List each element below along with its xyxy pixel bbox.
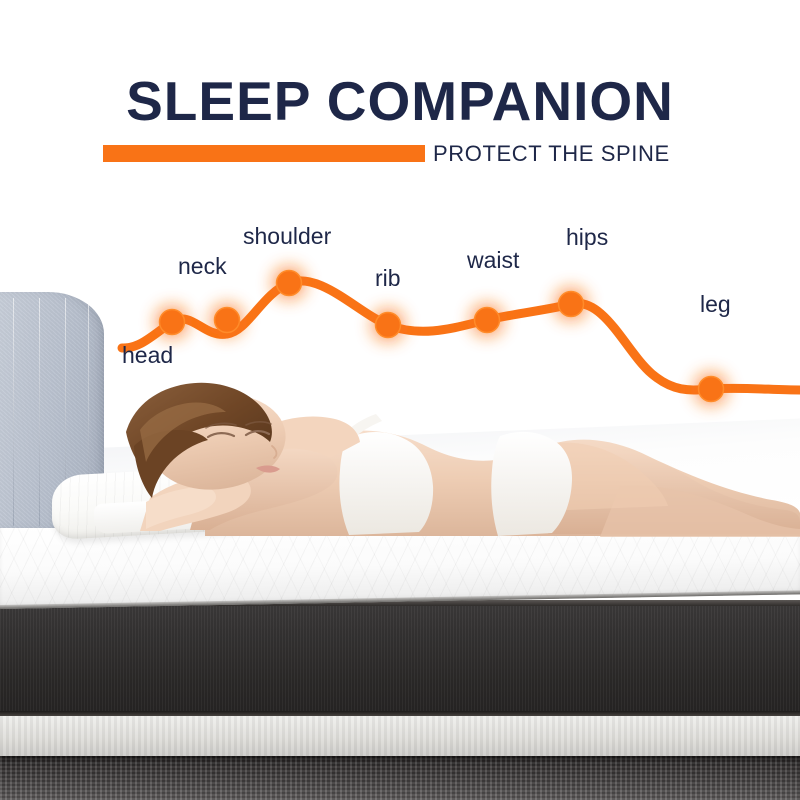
poster-canvas: headneckshoulderribwaisthipsleg SLEEP CO… — [0, 0, 800, 800]
spine-label-rib: rib — [375, 266, 401, 291]
page-title: SLEEP COMPANION — [0, 72, 800, 130]
spine-label-head: head — [122, 343, 173, 368]
spine-label-neck: neck — [178, 254, 227, 279]
spine-label-waist: waist — [467, 248, 519, 273]
page-subtitle: PROTECT THE SPINE — [433, 141, 693, 167]
spine-label-hips: hips — [566, 225, 608, 250]
subtitle-row: PROTECT THE SPINE — [103, 141, 693, 167]
accent-bar — [103, 145, 425, 162]
spine-label-leg: leg — [700, 292, 731, 317]
poster-header: SLEEP COMPANION PROTECT THE SPINE — [0, 0, 800, 190]
spine-label-shoulder: shoulder — [243, 224, 331, 249]
